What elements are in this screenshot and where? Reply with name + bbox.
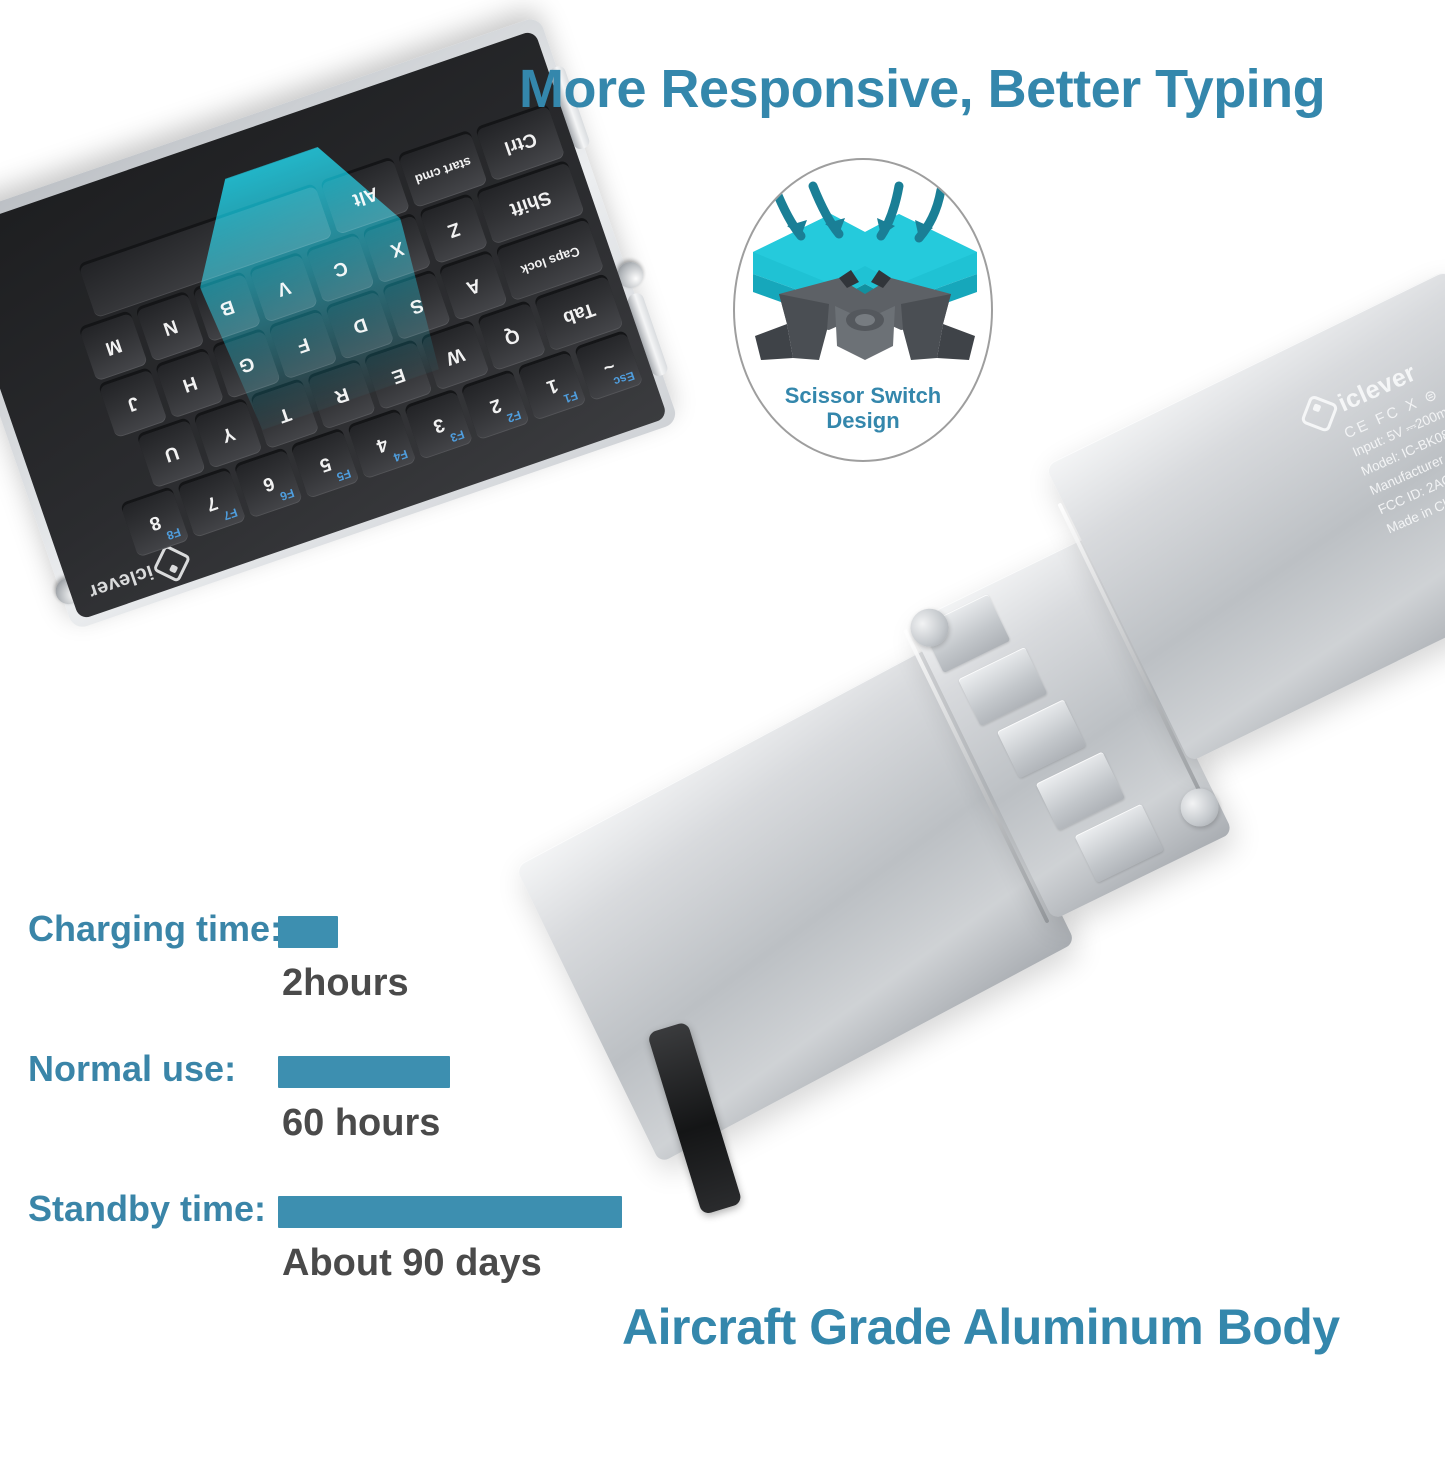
key-label: Z: [445, 219, 462, 241]
label-fcc-id: FCC ID: 2AC9LHB088: [1375, 420, 1445, 520]
key-f[interactable]: F: [269, 311, 338, 380]
label-model: Model: IC-BK08: [1358, 382, 1445, 482]
key-3[interactable]: F33: [405, 391, 474, 460]
key-g[interactable]: G: [212, 330, 281, 399]
key-7[interactable]: F77: [178, 469, 247, 538]
key-x[interactable]: X: [363, 215, 432, 284]
iclever-hex-logo-icon: [152, 544, 191, 583]
hinge-knuckle-top: [904, 602, 955, 653]
key-label: B: [218, 297, 237, 319]
key-label: 3: [431, 415, 447, 436]
key-tab[interactable]: Tab: [534, 276, 623, 352]
keyboard-hinge-pin-left: [614, 258, 647, 291]
product-spec-label: iclever CE FC X ⊜ Input: 5V ⎓200mA Model…: [1300, 313, 1445, 552]
label-manufacturer-model: Manufacturer Model:HB088: [1366, 401, 1445, 501]
aluminum-panel-right: iclever CE FC X ⊜ Input: 5V ⎓200mA Model…: [1045, 268, 1445, 762]
key-h[interactable]: H: [156, 350, 225, 419]
key-z[interactable]: Z: [420, 196, 489, 265]
iclever-hex-logo-icon: [1300, 394, 1339, 433]
key-label: M: [103, 336, 124, 359]
key-alt[interactable]: Alt: [321, 159, 410, 235]
hinge-tab-2: [958, 647, 1047, 726]
page-title-bottom: Aircraft Grade Aluminum Body: [622, 1298, 1340, 1356]
key-y[interactable]: Y: [194, 400, 263, 469]
key-q[interactable]: Q: [478, 303, 547, 372]
stat-row-charging-time: Charging time: 2hours: [0, 900, 660, 1040]
key-6[interactable]: F66: [234, 450, 303, 519]
keyboard-row: Caps lockASDFGHJ: [21, 219, 604, 465]
label-brand-text: iclever: [1334, 358, 1421, 418]
keyboard-row: ShiftZXCVBNM: [2, 162, 585, 408]
keyboard-hinge-pin-right: [52, 575, 85, 608]
key-5[interactable]: F55: [291, 430, 360, 499]
key-fn-label: F4: [392, 448, 409, 464]
rubber-foot-strip: [647, 1021, 743, 1215]
scissor-caption-line1: Scissor Switch: [785, 383, 942, 408]
key-v[interactable]: V: [250, 254, 319, 323]
key-fn-label: F8: [165, 526, 182, 542]
key-label: 6: [261, 473, 277, 494]
stat-row-standby-time: Standby time: About 90 days: [0, 1180, 660, 1320]
key-label: 1: [544, 376, 560, 397]
key-label: start cmd: [413, 154, 473, 187]
key-label: Shift: [508, 188, 554, 220]
key-label: H: [180, 373, 199, 395]
key-~[interactable]: Esc~: [575, 333, 644, 402]
key-a[interactable]: A: [439, 252, 508, 321]
keyboard-brand-text: iclever: [85, 559, 156, 603]
keyboard-brand-logo: iclever: [84, 545, 190, 606]
aluminum-seam-1: [903, 629, 1050, 924]
scissor-caption-line2: Design: [826, 408, 899, 433]
key-fn-label: F1: [562, 389, 579, 405]
page-title-top: More Responsive, Better Typing: [519, 58, 1325, 120]
key-label: E: [389, 365, 407, 387]
key-r[interactable]: R: [308, 361, 377, 430]
key-label: Ctrl: [502, 129, 539, 158]
keyboard-hinge-left: [626, 291, 669, 378]
hinge-tab-4: [1036, 752, 1125, 831]
key-label: T: [277, 404, 294, 426]
key-d[interactable]: D: [326, 291, 395, 360]
key-fn-label: Esc: [612, 370, 636, 388]
key-start-cmd[interactable]: start cmd: [398, 132, 487, 208]
key-label: 2: [488, 395, 504, 416]
hinge-knuckle-bottom: [1174, 782, 1225, 833]
key-label: 4: [374, 434, 390, 455]
key-label: F: [295, 334, 312, 356]
key-label: 5: [317, 454, 333, 475]
hinge-tab-1: [921, 594, 1010, 673]
key-label: U: [162, 443, 181, 465]
stat-row-normal-use: Normal use: 60 hours: [0, 1040, 660, 1180]
stat-value-normal-use: 60 hours: [282, 1102, 440, 1145]
key-label: A: [464, 275, 483, 297]
key-2[interactable]: F22: [461, 372, 530, 441]
key-8[interactable]: F88: [121, 489, 190, 558]
stat-value-charging-time: 2hours: [282, 962, 409, 1005]
scissor-switch-diagram: [735, 174, 993, 384]
key-caps-lock[interactable]: Caps lock: [496, 219, 604, 301]
scissor-switch-callout: Scissor Switch Design: [733, 158, 993, 462]
stat-label-standby-time: Standby time:: [28, 1188, 266, 1230]
keyboard-stage: iclever Esc~F11F22F33F44F55F66F77F88TabQ…: [0, 0, 850, 937]
hinge-tab-5: [1075, 804, 1164, 883]
stat-label-charging-time: Charging time:: [28, 908, 282, 950]
key-label: X: [388, 238, 406, 260]
key-label: Tab: [561, 300, 598, 329]
key-fn-label: F2: [506, 409, 523, 425]
key-fn-label: F6: [279, 487, 296, 503]
keyboard-row: Esc~F11F22F33F44F55F66F77F88: [60, 333, 643, 579]
key-label: J: [125, 393, 141, 414]
key-j[interactable]: J: [99, 370, 168, 439]
key-t[interactable]: T: [251, 381, 320, 450]
key-label: 8: [147, 512, 163, 533]
key-c[interactable]: C: [306, 235, 375, 304]
stat-bar-normal-use: [278, 1056, 450, 1088]
hinge-tab-3: [997, 699, 1086, 778]
key-label: C: [331, 258, 350, 280]
stat-bar-standby-time: [278, 1196, 622, 1228]
label-brand-row: iclever: [1300, 313, 1445, 434]
stat-bar-charging-time: [278, 916, 338, 948]
key-label: V: [275, 277, 293, 299]
key-fn-label: F5: [335, 467, 352, 483]
key-label: R: [332, 384, 351, 406]
key-n[interactable]: N: [136, 293, 205, 362]
key-shift[interactable]: Shift: [476, 162, 584, 244]
key-u[interactable]: U: [137, 420, 206, 489]
key-label: W: [444, 345, 467, 369]
key-label: Y: [219, 424, 237, 446]
key-fn-label: F3: [449, 428, 466, 444]
key-label: G: [237, 353, 257, 376]
key-s[interactable]: S: [383, 272, 452, 341]
key-label: S: [408, 295, 426, 317]
aluminum-panel-middle: [909, 536, 1233, 920]
key-press-highlight-beam: [169, 129, 451, 434]
keyboard-rows: Esc~F11F22F33F44F55F66F77F88TabQWERTYUCa…: [0, 100, 643, 578]
key-label: N: [161, 316, 180, 338]
key-1[interactable]: F11: [518, 352, 587, 421]
key-label: Q: [502, 325, 522, 348]
key-label: 7: [204, 493, 220, 514]
label-made-in: Made in China: [1383, 439, 1445, 539]
key-w[interactable]: W: [421, 322, 490, 391]
key-b[interactable]: B: [193, 274, 262, 343]
key-m[interactable]: M: [79, 313, 148, 382]
keyboard-product-photo: iclever Esc~F11F22F33F44F55F66F77F88TabQ…: [0, 0, 830, 850]
key-label: Caps lock: [519, 243, 582, 277]
stat-value-standby-time: About 90 days: [282, 1242, 542, 1285]
key-4[interactable]: F44: [348, 411, 417, 480]
label-input-spec: Input: 5V ⎓200mA: [1349, 363, 1445, 463]
key-space[interactable]: [79, 186, 333, 318]
key-e[interactable]: E: [364, 342, 433, 411]
scissor-switch-caption: Scissor Switch Design: [735, 383, 991, 434]
battery-stats-panel: Charging time: 2hours Normal use: 60 hou…: [0, 900, 660, 1320]
key-fn-label: F7: [222, 506, 239, 522]
stat-label-normal-use: Normal use:: [28, 1048, 236, 1090]
keyboard-row: Ctrlstart cmdAlt: [0, 106, 565, 352]
key-label: ~: [601, 356, 618, 378]
key-label: D: [351, 315, 370, 337]
aluminum-seam-2: [1057, 502, 1204, 797]
certification-marks: CE FC X ⊜: [1341, 344, 1445, 442]
key-label: Alt: [350, 184, 380, 210]
keyboard-row: TabQWERTYU: [41, 276, 624, 522]
